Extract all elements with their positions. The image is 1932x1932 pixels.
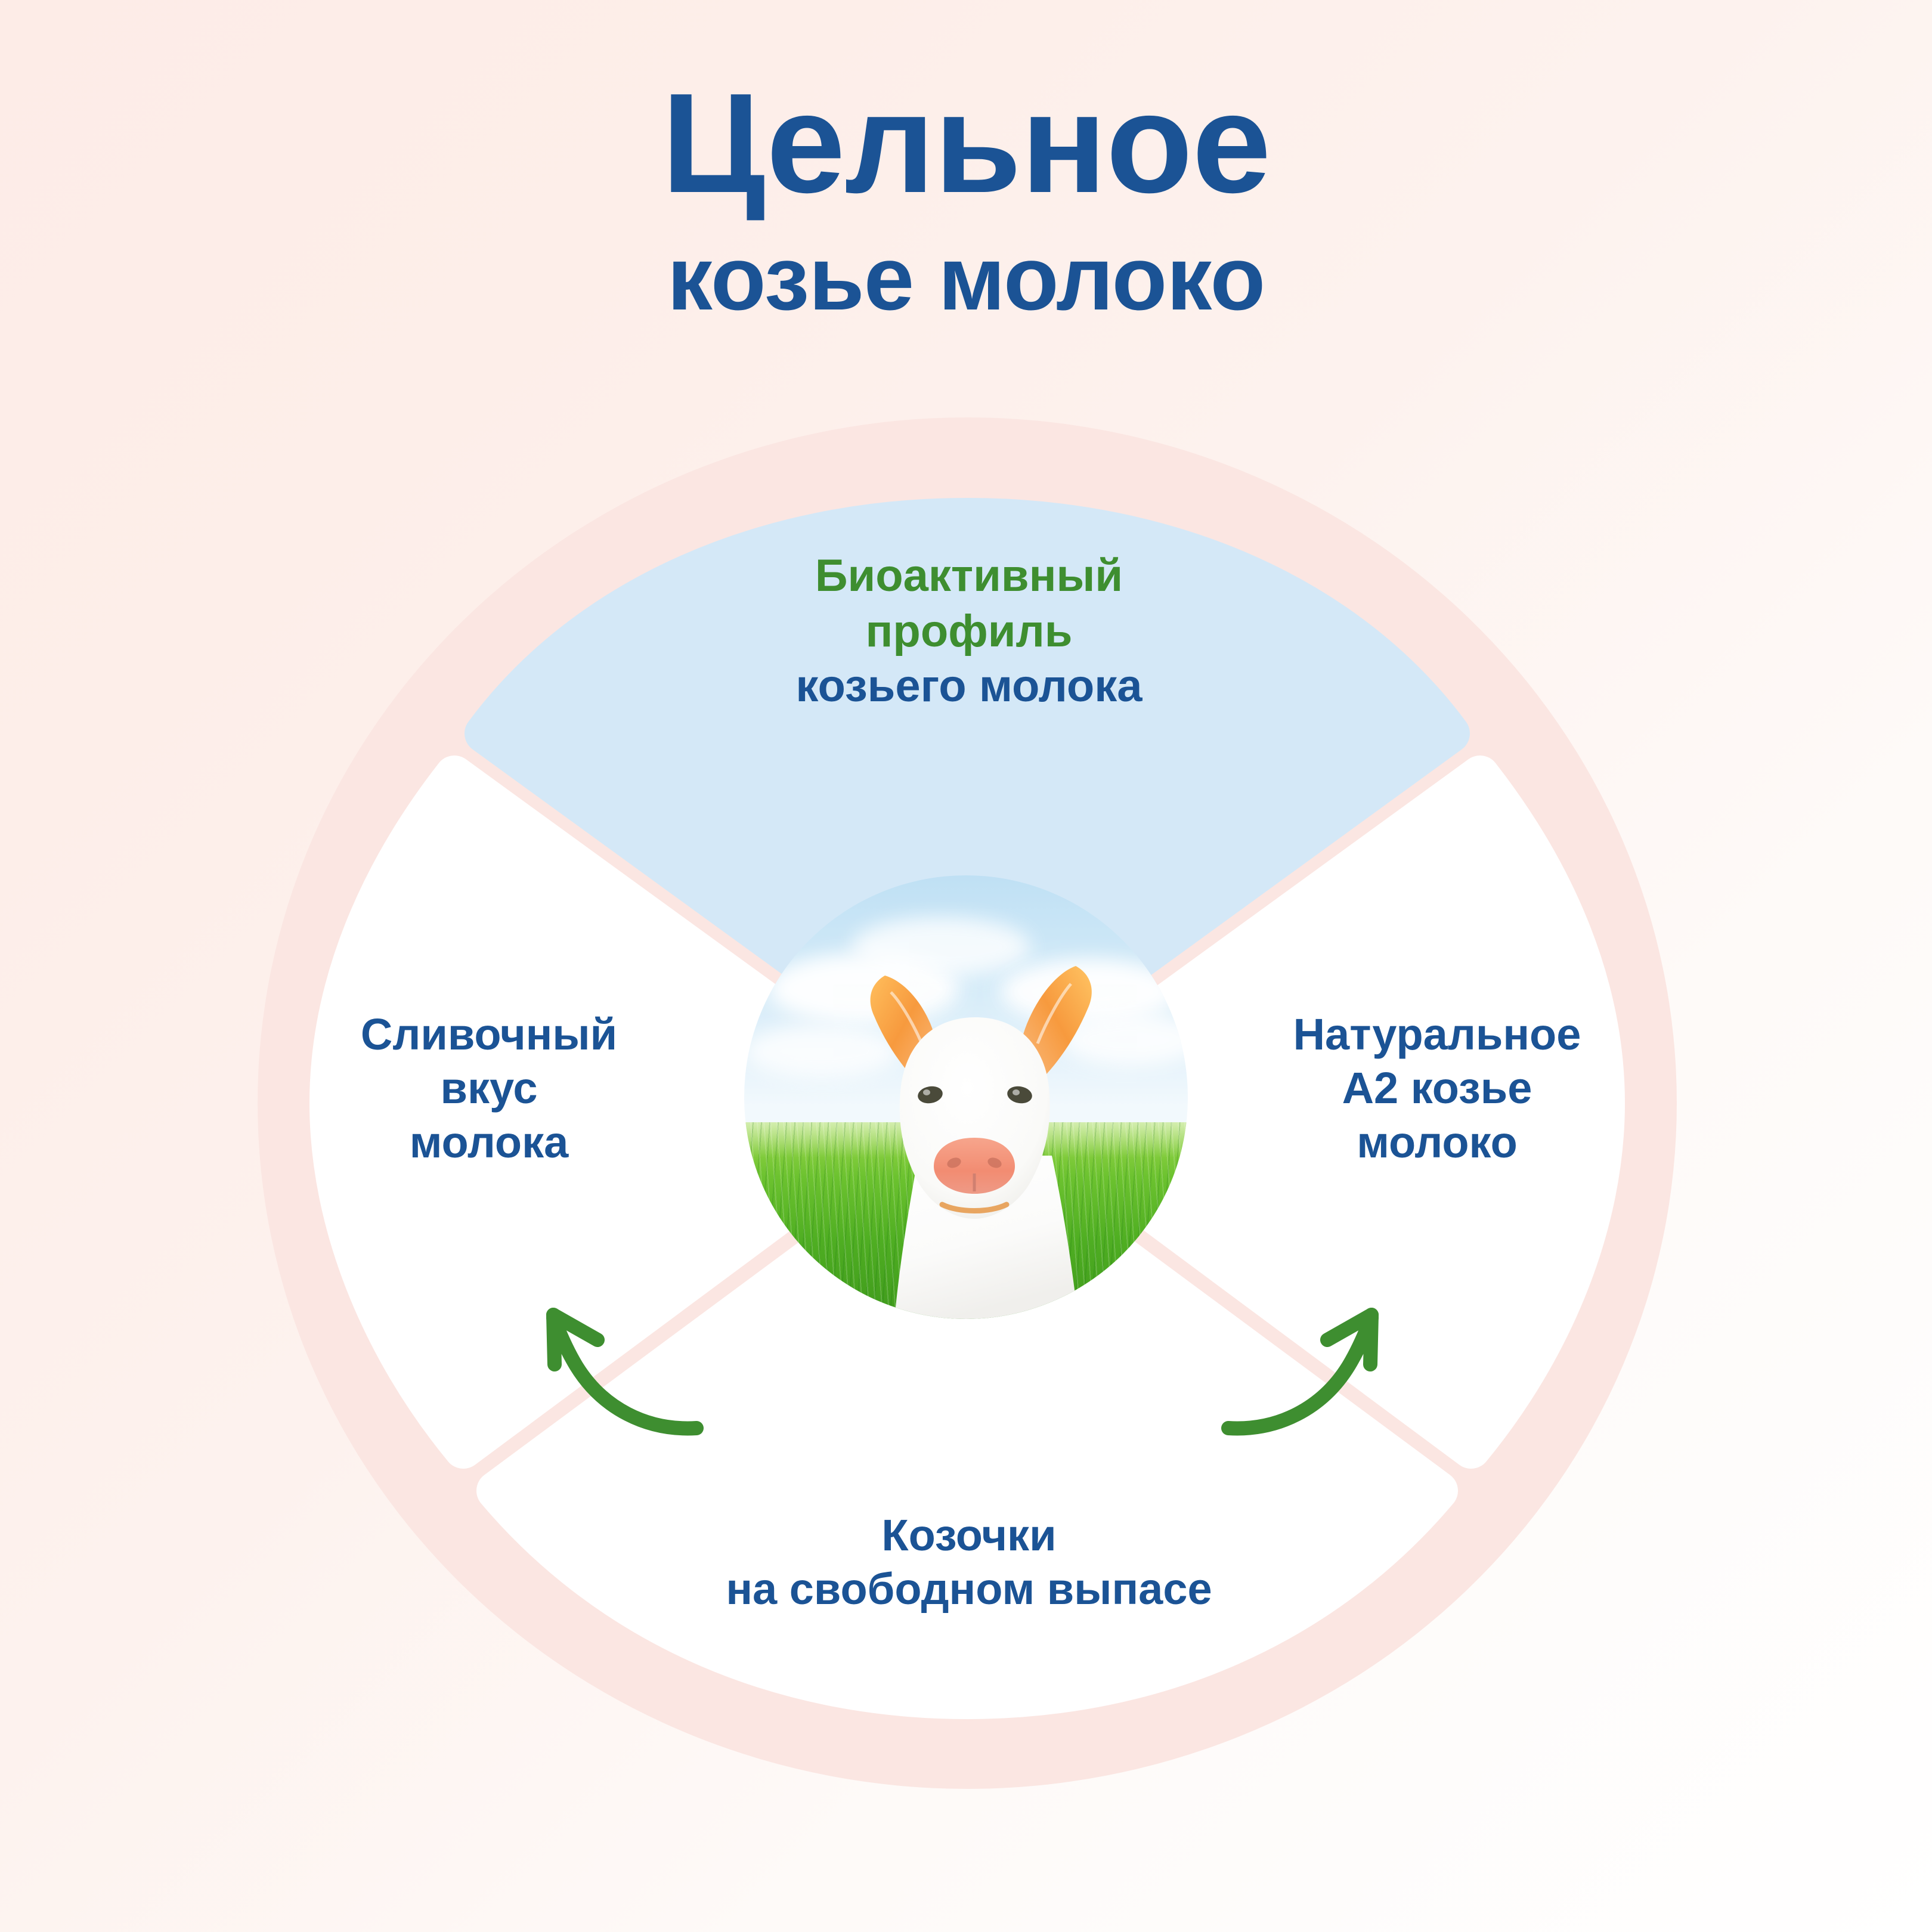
- title-main: Цельное: [0, 72, 1932, 216]
- title-sub: козье молоко: [0, 230, 1932, 327]
- page-title: Цельное козье молоко: [0, 72, 1932, 327]
- poster-canvas: Цельное козье молоко: [0, 0, 1932, 1932]
- center-goat-photo: [744, 875, 1188, 1319]
- goat-eye-right-glint: [1013, 1089, 1020, 1095]
- goat-eye-left-glint: [923, 1089, 930, 1095]
- goat-illustration: [744, 875, 1188, 1319]
